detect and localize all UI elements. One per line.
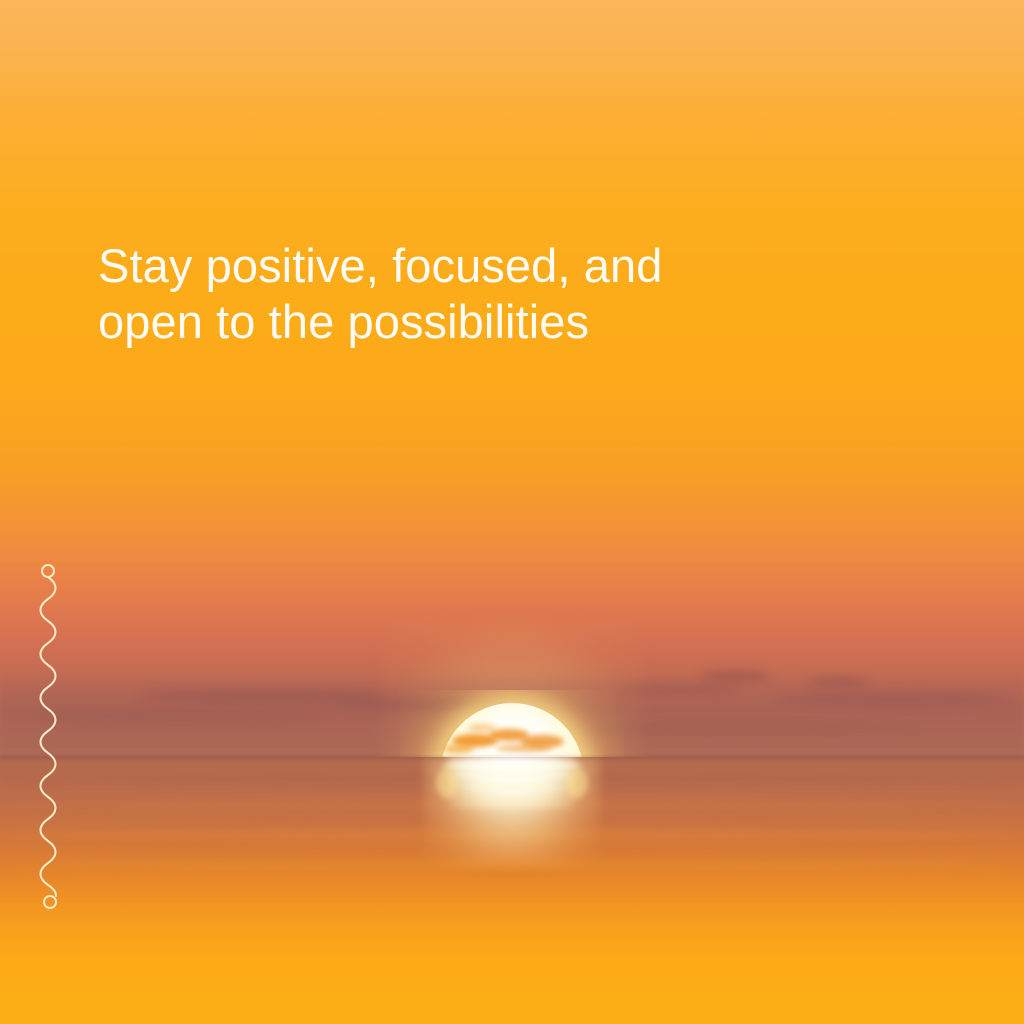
haze-streak [780, 694, 1010, 704]
quote-text: Stay positive, focused, and open to the … [98, 238, 738, 350]
sunspot [444, 744, 474, 754]
haze-streak [620, 684, 740, 695]
reflection-streak [436, 768, 458, 798]
squiggle-top-circle-icon [42, 565, 54, 577]
haze-streak [140, 690, 390, 702]
sunspot [496, 744, 552, 753]
haze-cloud-wisp [700, 672, 770, 680]
squiggle-path [41, 577, 57, 896]
squiggle-icon [26, 562, 74, 912]
vertical-wavy-line-decoration [26, 562, 74, 912]
squiggle-bottom-circle-icon [44, 896, 56, 908]
reflection-streak [462, 784, 562, 790]
reflection-streak [442, 763, 582, 768]
sky-gradient [0, 0, 1024, 760]
reflection-streak [452, 772, 572, 777]
sunspot [468, 724, 496, 732]
sunset-quote-card: Stay positive, focused, and open to the … [0, 0, 1024, 1024]
reflection-streak [470, 798, 554, 804]
reflection-streak [566, 768, 588, 798]
haze-streak [30, 712, 330, 721]
haze-cloud-wisp [808, 678, 868, 685]
